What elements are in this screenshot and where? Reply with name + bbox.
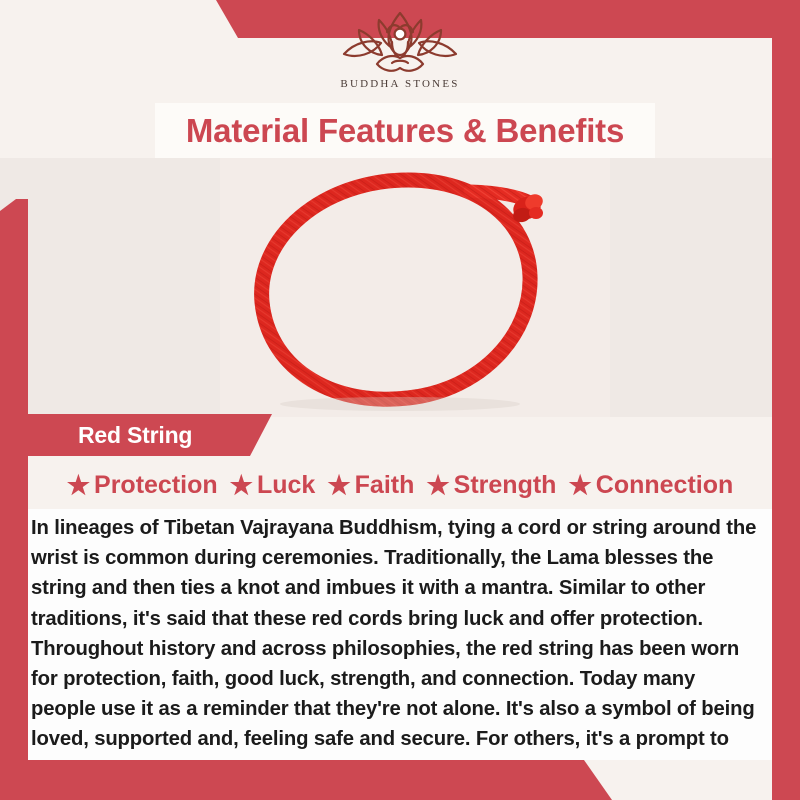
benefits-list: ★ Protection ★ Luck ★ Faith ★ Strength ★… (28, 463, 772, 507)
benefit-label: Protection (94, 471, 218, 500)
benefit-item: ★ Faith (322, 471, 419, 500)
benefit-label: Faith (355, 471, 415, 500)
benefit-label: Luck (257, 471, 315, 500)
brand-header: BUDDHA STONES (0, 0, 800, 104)
lotus-meditation-icon (337, 10, 463, 76)
material-name: Red String (78, 422, 192, 449)
title-banner: Material Features & Benefits (155, 103, 655, 158)
star-icon: ★ (230, 472, 253, 498)
benefit-item: ★ Connection (563, 471, 738, 500)
decorative-band-left (0, 199, 28, 800)
page-title: Material Features & Benefits (186, 112, 624, 150)
benefit-item: ★ Protection (62, 471, 223, 500)
benefit-label: Strength (454, 471, 557, 500)
benefit-label: Connection (596, 471, 734, 500)
red-string-bracelet-image (0, 158, 800, 417)
star-icon: ★ (568, 472, 591, 498)
infographic-page: BUDDHA STONES Material Features & Benefi… (0, 0, 800, 800)
benefit-item: ★ Luck (225, 471, 321, 500)
description-panel: In lineages of Tibetan Vajrayana Buddhis… (28, 509, 772, 760)
star-icon: ★ (426, 472, 449, 498)
product-photo-area (0, 158, 800, 417)
decorative-band-right (772, 0, 800, 800)
description-text: In lineages of Tibetan Vajrayana Buddhis… (31, 513, 758, 785)
star-icon: ★ (327, 472, 350, 498)
brand-name: BUDDHA STONES (340, 78, 459, 90)
star-icon: ★ (67, 472, 90, 498)
material-ribbon: Red String (22, 414, 272, 456)
benefit-item: ★ Strength (421, 471, 561, 500)
